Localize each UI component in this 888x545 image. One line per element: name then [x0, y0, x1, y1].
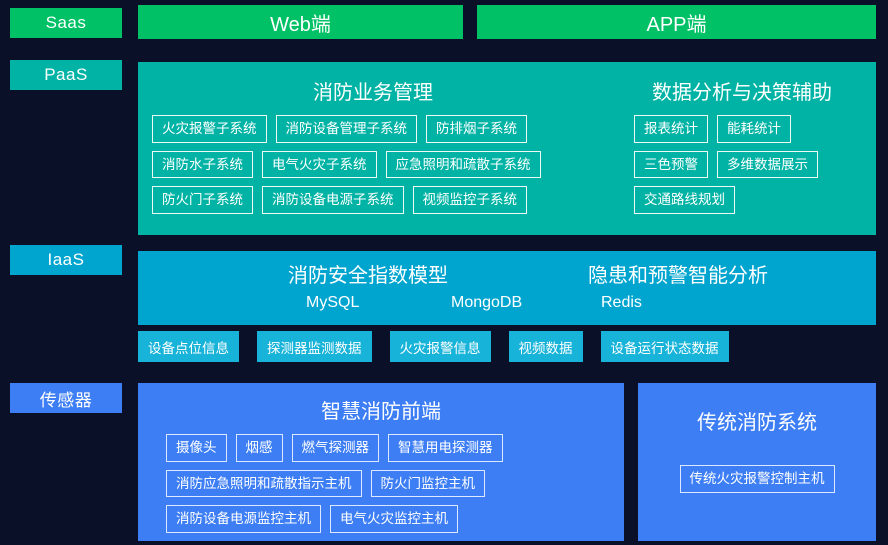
chip-row: 摄像头 烟感 燃气探测器 智慧用电探测器	[138, 434, 624, 462]
paas-analytics-chip-grid: 报表统计 能耗统计 三色预警 多维数据展示 交通路线规划	[608, 115, 876, 214]
chip-row: 消防设备电源监控主机 电气火灾监控主机	[138, 505, 624, 533]
paas-chip[interactable]: 电气火灾子系统	[262, 151, 377, 179]
paas-section-analytics: 数据分析与决策辅助 报表统计 能耗统计 三色预警 多维数据展示 交通路线规划	[608, 62, 876, 235]
paas-business-chip-grid: 火灾报警子系统 消防设备管理子系统 防排烟子系统 消防水子系统 电气火灾子系统 …	[138, 115, 608, 214]
chip-row: 火灾报警子系统 消防设备管理子系统 防排烟子系统	[148, 115, 598, 143]
iaas-data-chip[interactable]: 设备点位信息	[138, 331, 239, 362]
iaas-data-chip[interactable]: 设备运行状态数据	[601, 331, 729, 362]
architecture-diagram: Saas PaaS IaaS 传感器 Web端 APP端 消防业务管理 火灾报警…	[0, 0, 888, 545]
rail-label-iaas: IaaS	[10, 245, 122, 275]
rail-label-paas-text: PaaS	[44, 65, 88, 85]
sensor-panel-smart-frontend: 智慧消防前端 摄像头 烟感 燃气探测器 智慧用电探测器 消防应急照明和疏散指示主…	[138, 383, 624, 541]
chip-row: 消防水子系统 电气火灾子系统 应急照明和疏散子系统	[148, 151, 598, 179]
iaas-title-group: 消防安全指数模型 隐患和预警智能分析 MySQL MongoDB Redis	[138, 251, 876, 325]
sensor-panel-traditional: 传统消防系统 传统火灾报警控制主机	[638, 383, 876, 541]
db-label-mongodb: MongoDB	[451, 294, 522, 312]
paas-chip[interactable]: 防火门子系统	[152, 186, 253, 214]
iaas-data-chip[interactable]: 火灾报警信息	[390, 331, 491, 362]
sensor-chip[interactable]: 烟感	[236, 434, 283, 462]
chip-row: 消防应急照明和疏散指示主机 防火门监控主机	[138, 470, 624, 498]
paas-chip[interactable]: 多维数据展示	[717, 151, 818, 179]
sensor-chip[interactable]: 摄像头	[166, 434, 227, 462]
saas-bar-app-label: APP端	[646, 8, 706, 37]
rail-label-paas: PaaS	[10, 60, 122, 90]
saas-bar-web-label: Web端	[270, 8, 331, 37]
sensor-frontend-title: 智慧消防前端	[138, 395, 624, 424]
sensor-chip[interactable]: 消防应急照明和疏散指示主机	[166, 470, 362, 498]
paas-chip[interactable]: 消防设备管理子系统	[276, 115, 418, 143]
db-label-redis: Redis	[601, 294, 642, 312]
sensor-chip[interactable]: 传统火灾报警控制主机	[680, 465, 835, 493]
chip-row: 三色预警 多维数据展示	[618, 151, 866, 179]
sensor-chip[interactable]: 防火门监控主机	[371, 470, 486, 498]
rail-label-sensor-text: 传感器	[40, 386, 93, 411]
paas-chip[interactable]: 应急照明和疏散子系统	[386, 151, 541, 179]
chip-row: 传统火灾报警控制主机	[638, 465, 876, 493]
paas-chip[interactable]: 火灾报警子系统	[152, 115, 267, 143]
paas-chip[interactable]: 视频监控子系统	[413, 186, 528, 214]
paas-chip[interactable]: 交通路线规划	[634, 186, 735, 214]
iaas-title-safety-index: 消防安全指数模型	[238, 259, 498, 288]
paas-chip[interactable]: 消防设备电源子系统	[262, 186, 404, 214]
rail-label-saas-text: Saas	[46, 13, 87, 33]
paas-section-business: 消防业务管理 火灾报警子系统 消防设备管理子系统 防排烟子系统 消防水子系统 电…	[138, 62, 608, 235]
paas-chip[interactable]: 消防水子系统	[152, 151, 253, 179]
paas-chip[interactable]: 能耗统计	[717, 115, 791, 143]
sensor-chip[interactable]: 智慧用电探测器	[388, 434, 503, 462]
iaas-data-chip-strip: 设备点位信息 探测器监测数据 火灾报警信息 视频数据 设备运行状态数据	[138, 331, 876, 362]
iaas-data-chip[interactable]: 视频数据	[509, 331, 583, 362]
saas-bar-app: APP端	[477, 5, 876, 39]
sensor-chip[interactable]: 消防设备电源监控主机	[166, 505, 321, 533]
saas-bar-web: Web端	[138, 5, 463, 39]
paas-panel: 消防业务管理 火灾报警子系统 消防设备管理子系统 防排烟子系统 消防水子系统 电…	[138, 62, 876, 235]
db-label-mysql: MySQL	[306, 294, 359, 312]
chip-row: 交通路线规划	[618, 186, 866, 214]
rail-label-sensor: 传感器	[10, 383, 122, 413]
rail-label-saas: Saas	[10, 8, 122, 38]
paas-chip[interactable]: 防排烟子系统	[426, 115, 527, 143]
iaas-data-chip[interactable]: 探测器监测数据	[257, 331, 372, 362]
paas-chip[interactable]: 三色预警	[634, 151, 708, 179]
rail-label-iaas-text: IaaS	[48, 250, 85, 270]
sensor-chip[interactable]: 电气火灾监控主机	[330, 505, 458, 533]
paas-analytics-title: 数据分析与决策辅助	[608, 76, 876, 105]
iaas-title-risk-analysis: 隐患和预警智能分析	[538, 259, 818, 288]
paas-business-title: 消防业务管理	[138, 76, 608, 105]
chip-row: 防火门子系统 消防设备电源子系统 视频监控子系统	[148, 186, 598, 214]
iaas-panel: 消防安全指数模型 隐患和预警智能分析 MySQL MongoDB Redis	[138, 251, 876, 325]
sensor-chip[interactable]: 燃气探测器	[292, 434, 380, 462]
sensor-traditional-title: 传统消防系统	[638, 406, 876, 435]
paas-chip[interactable]: 报表统计	[634, 115, 708, 143]
chip-row: 报表统计 能耗统计	[618, 115, 866, 143]
